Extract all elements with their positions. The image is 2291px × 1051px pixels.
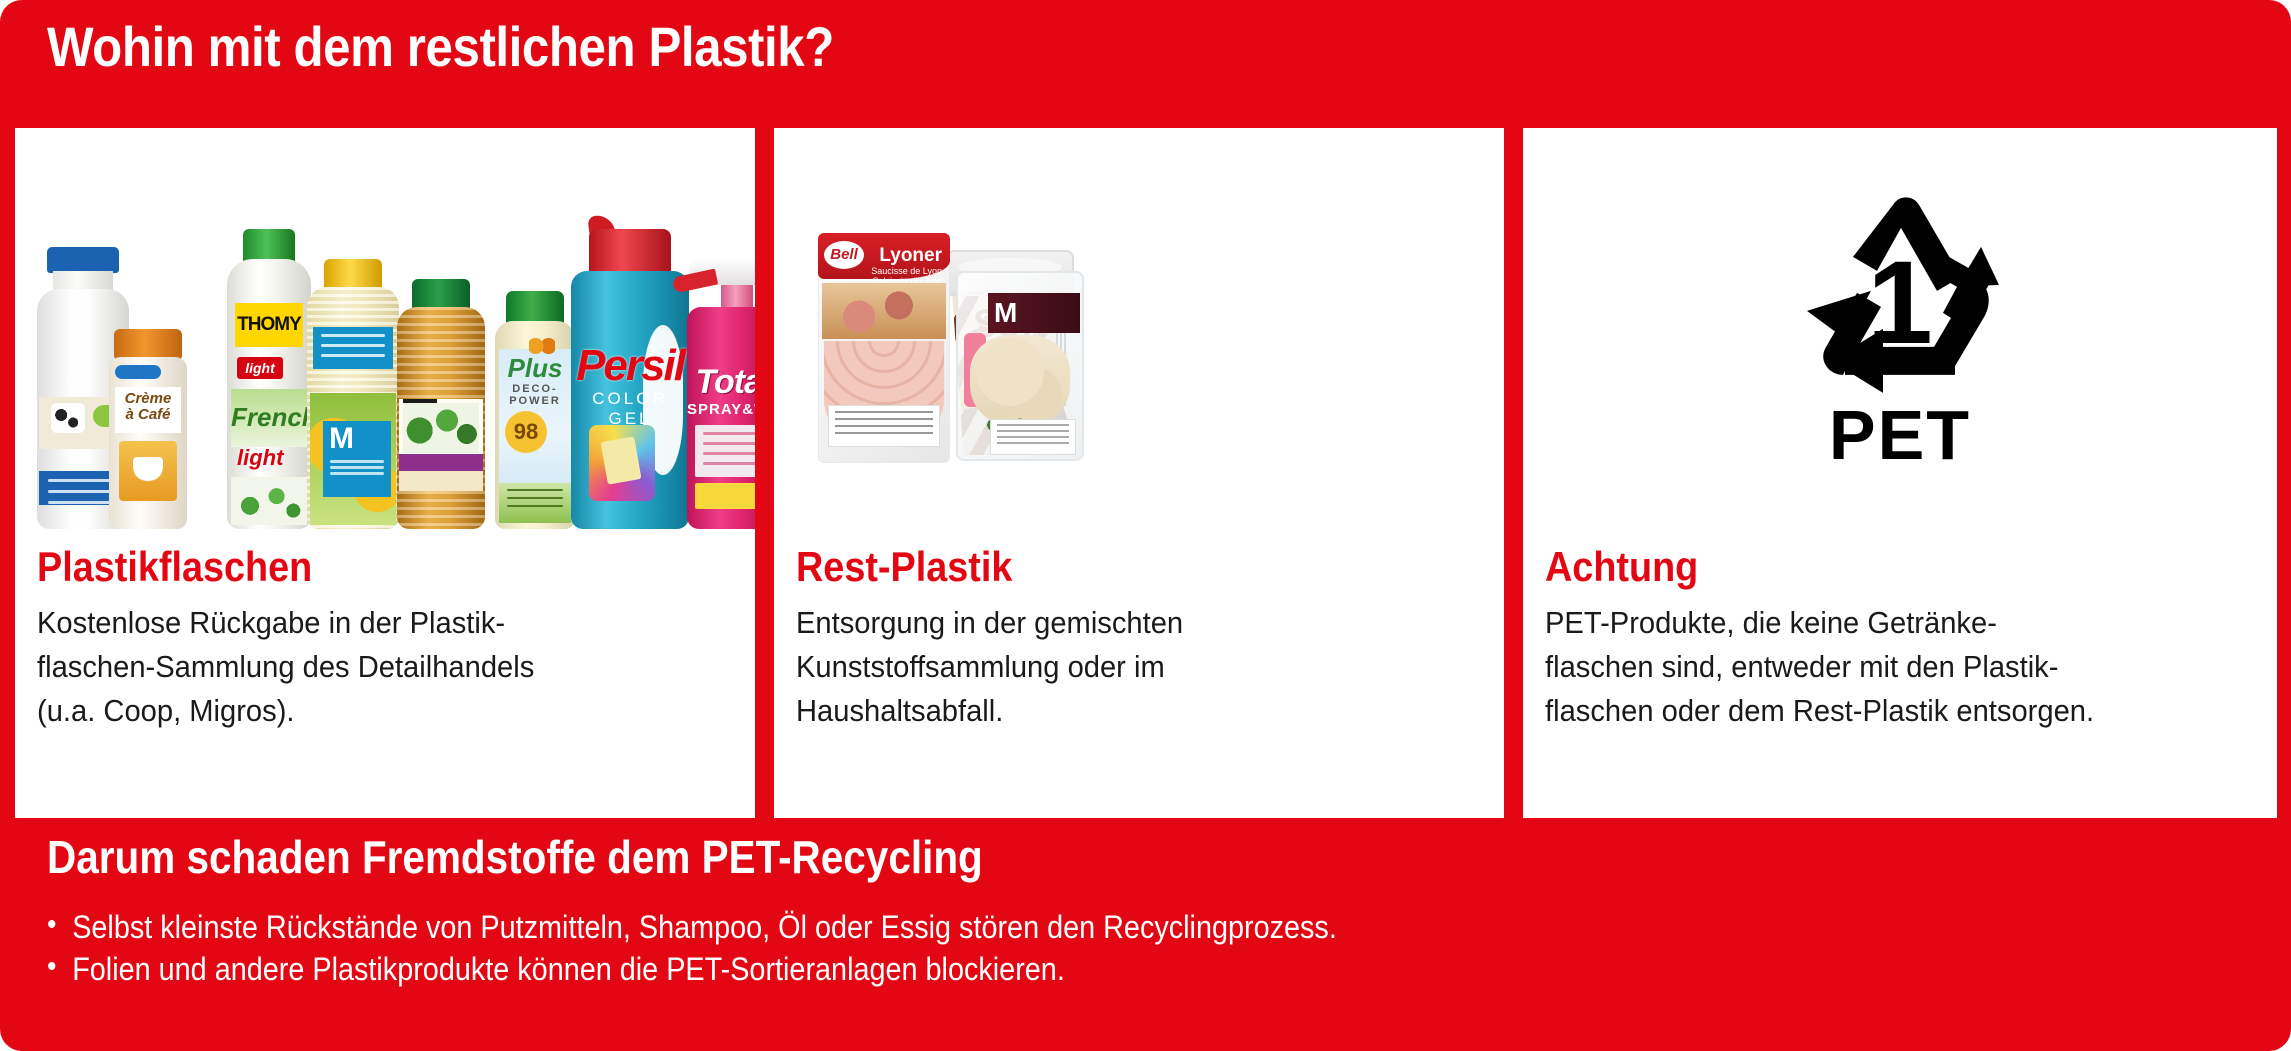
coffee-cup-image: [119, 441, 177, 501]
brand-name-label: Persil: [571, 341, 689, 391]
infographic-panel: Wohin mit dem restlichen Plastik?: [0, 0, 2291, 1051]
product-detergent-bottle: Persil COLOR GEL: [571, 229, 689, 529]
pet-symbol-group: 1 PET: [1785, 190, 2015, 469]
body-line: (u.a. Coop, Migros).: [37, 689, 730, 733]
food-photo: [822, 283, 946, 339]
body-line: Haushaltsabfall.: [796, 689, 1480, 733]
green-footer-panel: [499, 483, 571, 523]
bottle-cap: [47, 247, 119, 273]
herb-graphic: [231, 477, 307, 525]
brand-name-label: Total: [687, 363, 755, 402]
card-plastikflaschen-text: Plastikflaschen Kostenlose Rückgabe in d…: [15, 543, 755, 733]
list-item: Folien und andere Plastikprodukte können…: [47, 948, 2040, 990]
recycling-triangle-icon: 1: [1785, 190, 2015, 405]
color-graphic: [589, 425, 655, 501]
card-plastikflaschen: Crèmeà Café THOMY light French light: [15, 128, 755, 818]
body-line: PET-Produkte, die keine Getränke-: [1545, 601, 2252, 645]
plastic-bottles-illustration: Crèmeà Café THOMY light French light: [15, 128, 755, 543]
product-meat-tray: M: [956, 271, 1084, 461]
body-line: flaschen oder dem Rest-Plastik entsorgen…: [1545, 689, 2252, 733]
card-body: PET-Produkte, die keine Getränke- flasch…: [1545, 601, 2252, 733]
vinegar-label: [399, 399, 483, 491]
variant-label: French: [231, 389, 307, 447]
trigger-lever: [672, 269, 718, 294]
meat-content: [970, 335, 1070, 427]
card-rest-plastik: SoftIce Vanilla Bell Lyoner Saucisse de …: [774, 128, 1504, 818]
cards-row: Crèmeà Café THOMY light French light: [15, 128, 2277, 818]
footer-title: Darum schaden Fremdstoffe dem PET-Recycl…: [47, 830, 1995, 884]
product-name-label: Lyoner: [879, 245, 942, 267]
herb-graphic: [403, 403, 479, 453]
body-line: Kostenlose Rückgabe in der Plastik-: [37, 601, 730, 645]
percent-badge: 98: [505, 411, 547, 453]
variant-label: COLOR GEL: [571, 389, 689, 429]
card-heading: Achtung: [1545, 543, 2184, 591]
bottle-cap: [243, 229, 295, 263]
price-label: [990, 419, 1076, 455]
product-cleaner-bottle: Plus DECO-POWER 98: [495, 291, 575, 529]
list-item: Selbst kleinste Rückstände von Putzmitte…: [47, 906, 2040, 948]
footer-bullet-list: Selbst kleinste Rückstände von Putzmitte…: [47, 906, 2261, 990]
light-script-label: light: [237, 445, 283, 471]
info-panel: [313, 327, 393, 369]
brand-label: M: [988, 293, 1080, 333]
card-rest-plastik-image: SoftIce Vanilla Bell Lyoner Saucisse de …: [774, 128, 1504, 543]
price-label: [828, 405, 940, 447]
body-line: Kunststoffsammlung oder im: [796, 645, 1480, 689]
body-line: Entsorgung in der gemischten: [796, 601, 1480, 645]
card-body: Kostenlose Rückgabe in der Plastik- flas…: [37, 601, 730, 733]
product-sausage-pack: Bell Lyoner Saucisse de LyonSalsiccia di…: [818, 233, 950, 463]
variant-label: SPRAY&WASH: [687, 401, 755, 418]
card-body: Entsorgung in der gemischten Kunststoffs…: [796, 601, 1480, 733]
product-name-label: Crèmeà Café: [115, 387, 181, 433]
footer-section: Darum schaden Fremdstoffe dem PET-Recycl…: [47, 830, 2261, 990]
bottle-cap: [506, 291, 564, 325]
brand-name-label: Plus: [495, 353, 575, 384]
mixed-plastic-illustration: SoftIce Vanilla Bell Lyoner Saucisse de …: [774, 128, 1504, 543]
brand-label: M: [323, 421, 391, 497]
card-heading: Rest-Plastik: [796, 543, 1413, 591]
cow-icon: [51, 403, 85, 433]
product-dressing-bottle: THOMY light French light: [227, 229, 311, 529]
brand-strip: [115, 365, 161, 379]
product-vinegar-bottle: [397, 279, 485, 529]
eco-power-label: DECO-POWER: [495, 383, 575, 407]
bell-logo: Bell: [824, 241, 864, 269]
card-rest-plastik-text: Rest-Plastik Entsorgung in der gemischte…: [774, 543, 1504, 733]
product-oil-bottle: M: [307, 259, 399, 529]
svg-text:1: 1: [1867, 236, 1933, 368]
page-title: Wohin mit dem restlichen Plastik?: [47, 14, 834, 79]
card-heading: Plastikflaschen: [37, 543, 663, 591]
body-line: flaschen-Sammlung des Detailhandels: [37, 645, 730, 689]
light-badge: light: [237, 357, 283, 379]
bottle-cap: [589, 229, 671, 275]
card-achtung-text: Achtung PET-Produkte, die keine Getränke…: [1523, 543, 2277, 733]
yellow-claim-strip: [695, 483, 755, 509]
bottle-cap: [114, 329, 182, 359]
card-achtung-image: 1 PET: [1523, 128, 2277, 543]
brand-banner: THOMY: [235, 303, 303, 347]
card-plastikflaschen-image: Crèmeà Café THOMY light French light: [15, 128, 755, 543]
card-achtung: 1 PET Achtung PET-Produkte, die keine Ge…: [1523, 128, 2277, 818]
product-spray-bottle: Total SPRAY&WASH: [687, 259, 755, 529]
info-panel: [695, 425, 755, 477]
pet-label: PET: [1785, 399, 2015, 469]
product-creamer-bottle: Crèmeà Café: [109, 329, 187, 529]
body-line: flaschen sind, entweder mit den Plastik-: [1545, 645, 2252, 689]
